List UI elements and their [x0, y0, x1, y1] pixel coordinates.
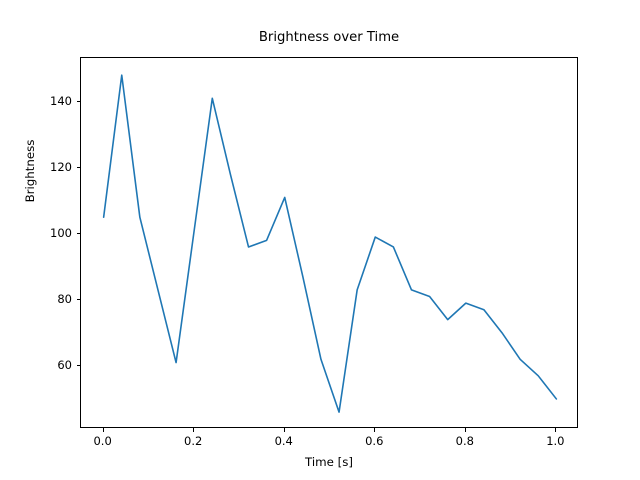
plot-area	[80, 57, 578, 428]
y-tick-label: 120	[50, 160, 72, 174]
x-tick-label: 0.0	[93, 434, 111, 448]
y-tick-mark	[77, 365, 81, 366]
y-tick-label: 140	[50, 94, 72, 108]
x-tick-label: 0.4	[275, 434, 293, 448]
y-tick-mark	[77, 233, 81, 234]
x-tick-label: 0.2	[184, 434, 202, 448]
page-title: Brightness over Time	[80, 30, 578, 46]
y-tick-mark	[77, 167, 81, 168]
x-tick-mark	[103, 428, 104, 432]
y-axis-label: Brightness	[23, 71, 37, 271]
x-axis-label: Time [s]	[80, 455, 578, 469]
x-tick-label: 0.6	[365, 434, 383, 448]
brightness-line	[104, 75, 557, 412]
line-series-svg	[81, 58, 579, 429]
x-tick-mark	[193, 428, 194, 432]
x-tick-mark	[284, 428, 285, 432]
y-tick-mark	[77, 299, 81, 300]
x-tick-mark	[465, 428, 466, 432]
y-tick-label: 100	[50, 226, 72, 240]
matplotlib-figure: Brightness over Time 0.00.20.40.60.81.0 …	[0, 0, 640, 480]
y-tick-mark	[77, 101, 81, 102]
x-tick-label: 1.0	[546, 434, 564, 448]
x-tick-mark	[555, 428, 556, 432]
x-tick-mark	[374, 428, 375, 432]
y-tick-label: 80	[57, 292, 72, 306]
y-tick-label: 60	[57, 358, 72, 372]
x-tick-label: 0.8	[456, 434, 474, 448]
